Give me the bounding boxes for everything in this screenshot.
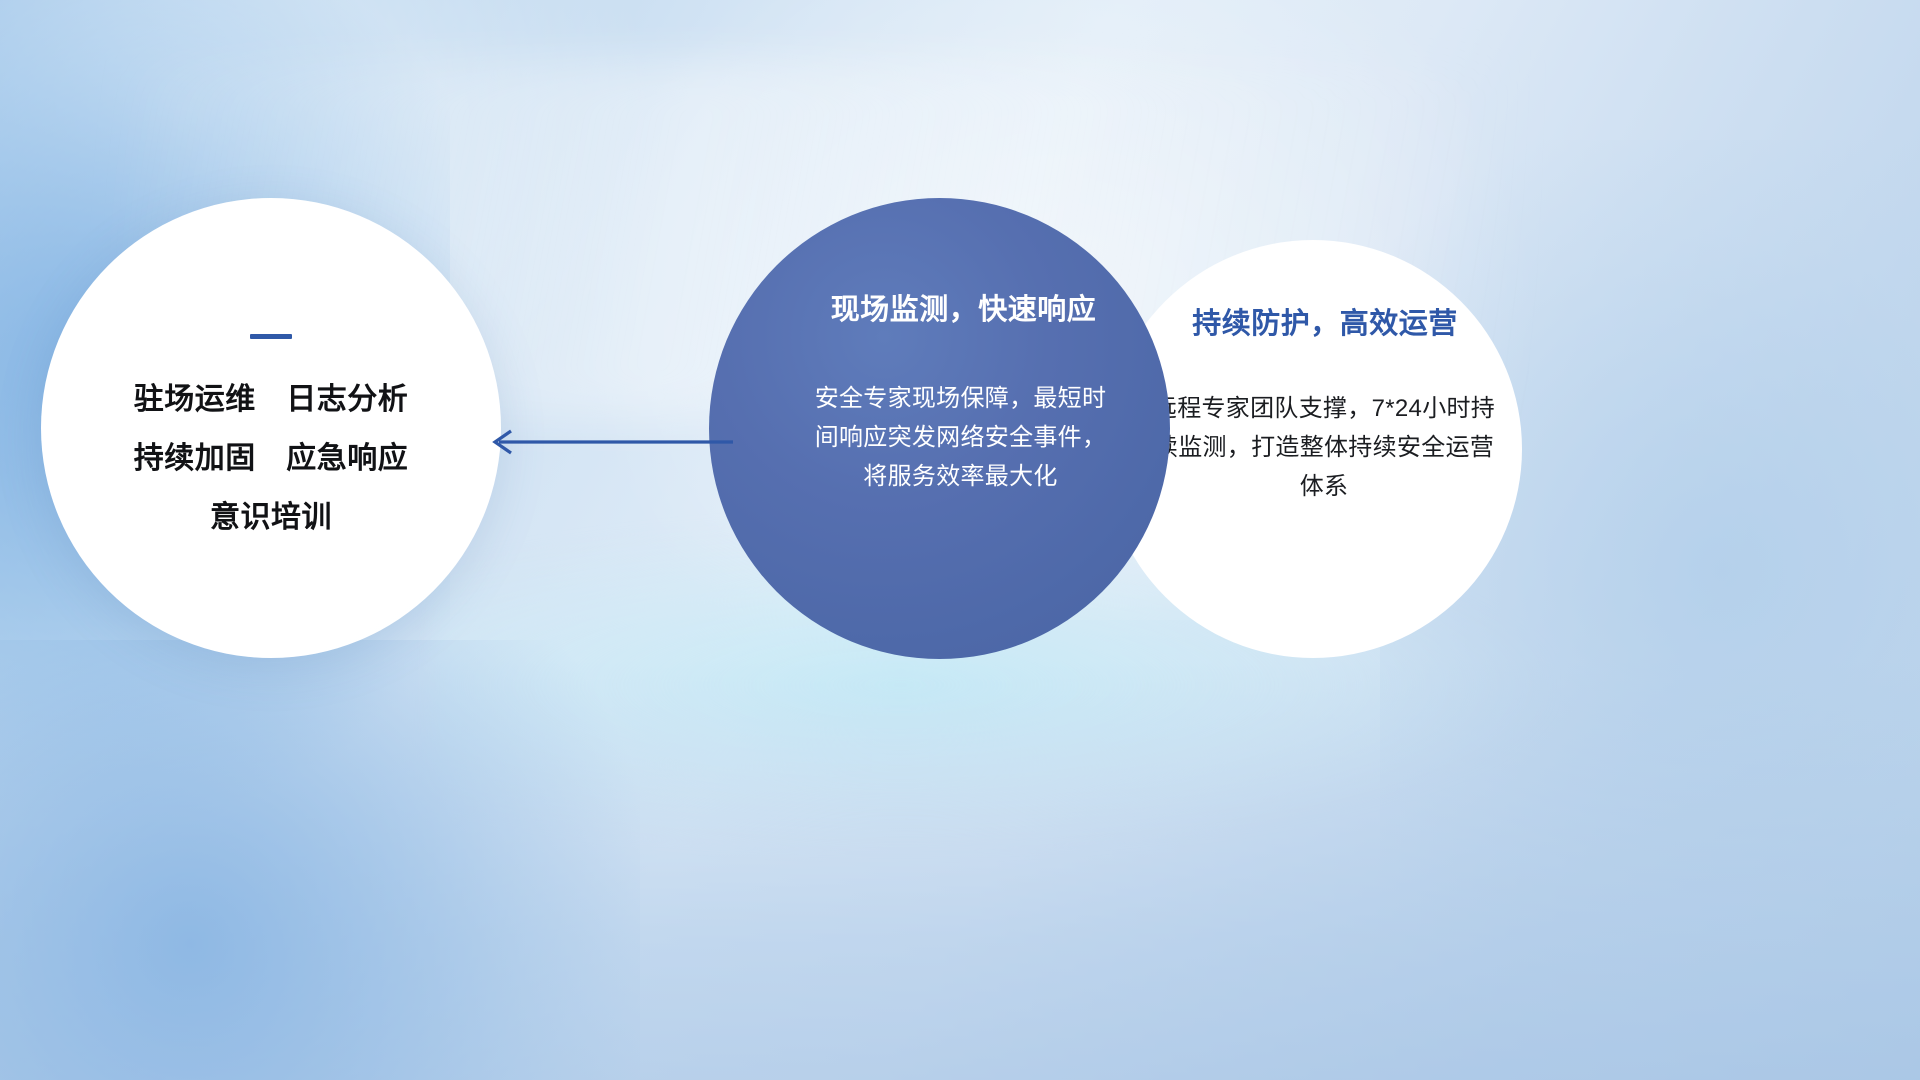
continuous-protection-body: 远程专家团队支撑，7*24小时持续监测，打造整体持续安全运营体系 [1144,390,1504,507]
capabilities-keyword-list: 驻场运维 日志分析 持续加固 应急响应 意识培训 [134,385,409,533]
capabilities-line-1: 驻场运维 日志分析 [134,385,409,415]
continuous-protection-title: 持续防护，高效运营 [1192,300,1458,342]
background-bottom-left-blue [0,640,640,1080]
onsite-monitoring-body: 安全专家现场保障，最短时间响应突发网络安全事件，将服务效率最大化 [811,380,1111,497]
flow-arrow-left [485,418,735,466]
capabilities-line-3: 意识培训 [134,503,409,533]
onsite-monitoring-title: 现场监测，快速响应 [831,286,1097,328]
capabilities-line-2: 持续加固 应急响应 [134,444,409,474]
divider-dash-icon [250,334,292,339]
onsite-monitoring-circle: 现场监测，快速响应 安全专家现场保障，最短时间响应突发网络安全事件，将服务效率最… [709,198,1170,659]
capabilities-circle: 驻场运维 日志分析 持续加固 应急响应 意识培训 [41,198,501,658]
